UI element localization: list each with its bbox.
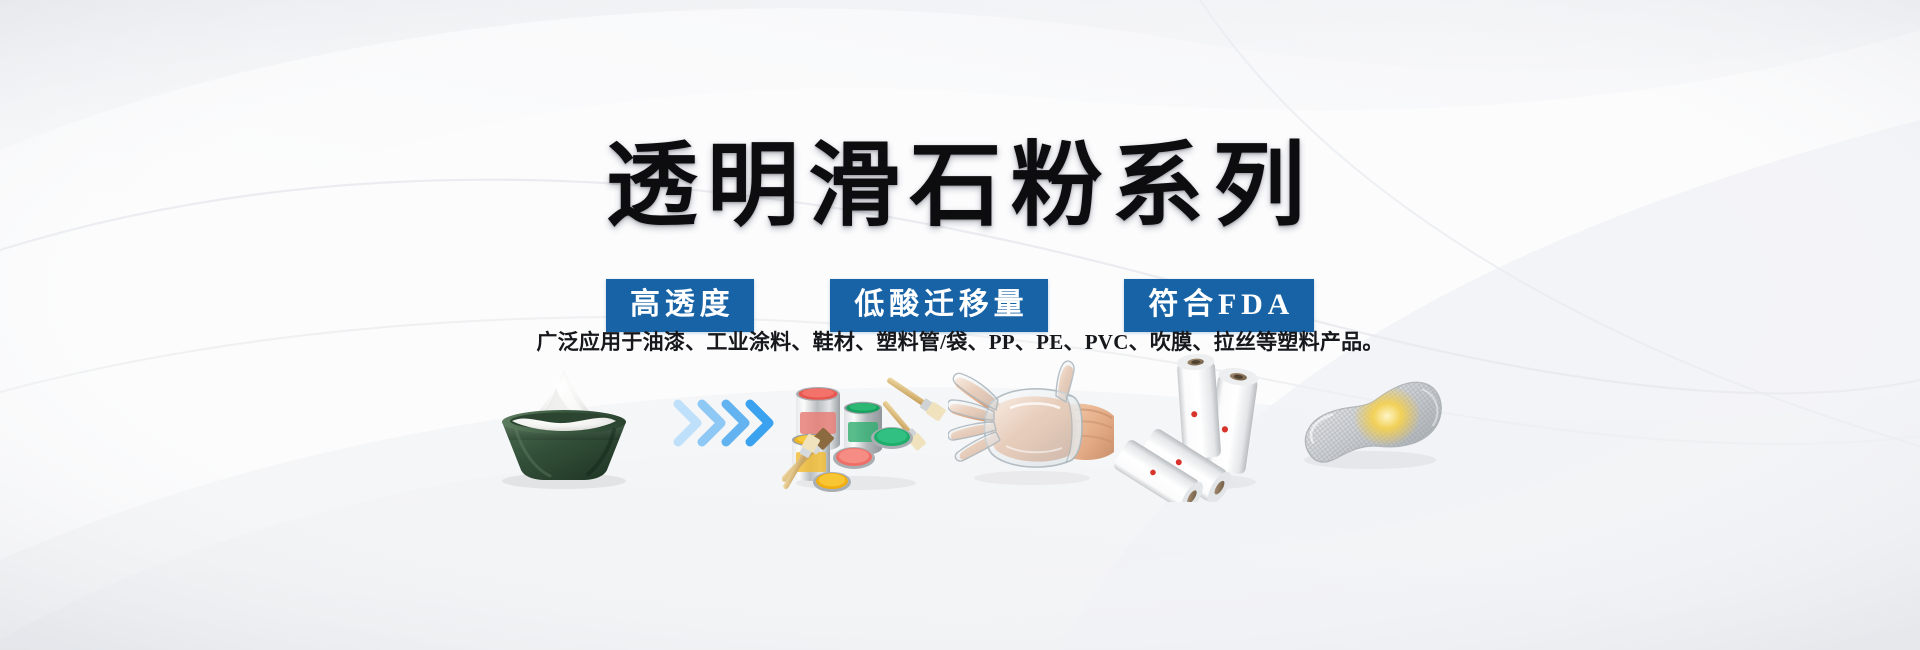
plastic-film-rolls-image: [1114, 352, 1280, 502]
product-image-strip: [0, 352, 1920, 502]
plastic-glove-hand-image: [948, 352, 1114, 502]
page-title: 透明滑石粉系列: [606, 140, 1314, 232]
banner-title-container: 透明滑石粉系列: [0, 78, 1920, 293]
chevron-arrows-icon: [664, 352, 782, 502]
talc-powder-bowl-image: [464, 352, 664, 502]
product-banner: 透明滑石粉系列 高透度 低酸迁移量 符合FDA 广泛应用于油漆、工业涂料、鞋材、…: [0, 0, 1920, 650]
paint-cans-image: [782, 352, 948, 502]
shoe-sole-image: [1280, 352, 1456, 502]
